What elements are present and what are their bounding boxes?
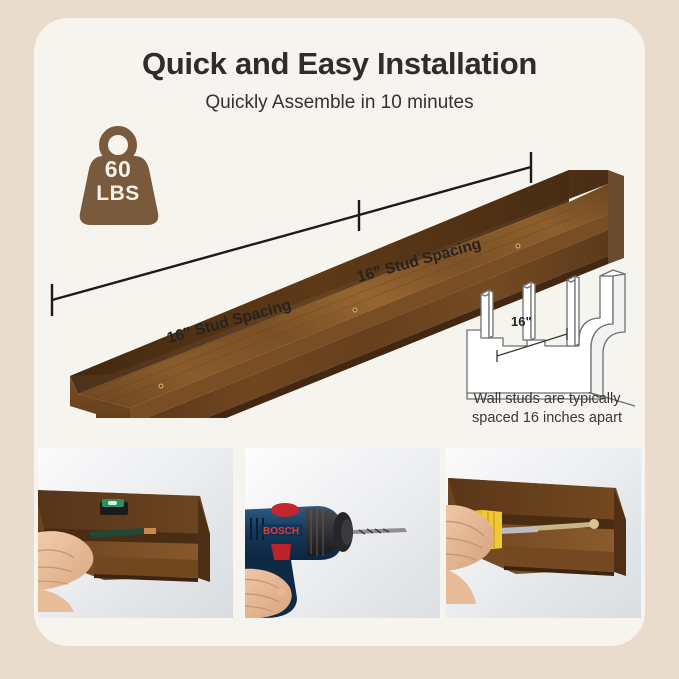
page-subtitle: Quickly Assemble in 10 minutes <box>34 92 645 114</box>
step-2-drill-hole-photo: BOSCH <box>245 448 440 618</box>
step-1-level-shelf-photo <box>38 448 233 618</box>
wall-stud-diagram: 16" <box>457 268 645 408</box>
caption-line-1: Wall studs are typically <box>449 390 645 409</box>
wall-stud-caption: Wall studs are typically spaced 16 inche… <box>449 390 645 428</box>
infographic-card: Quick and Easy Installation Quickly Asse… <box>34 18 645 646</box>
stud-measure-label: 16" <box>511 314 532 329</box>
drill-brand-label: BOSCH <box>263 526 299 537</box>
step-3-screw-shelf-photo <box>446 448 641 618</box>
caption-line-2: spaced 16 inches apart <box>449 409 645 428</box>
page-title: Quick and Easy Installation <box>34 46 645 82</box>
